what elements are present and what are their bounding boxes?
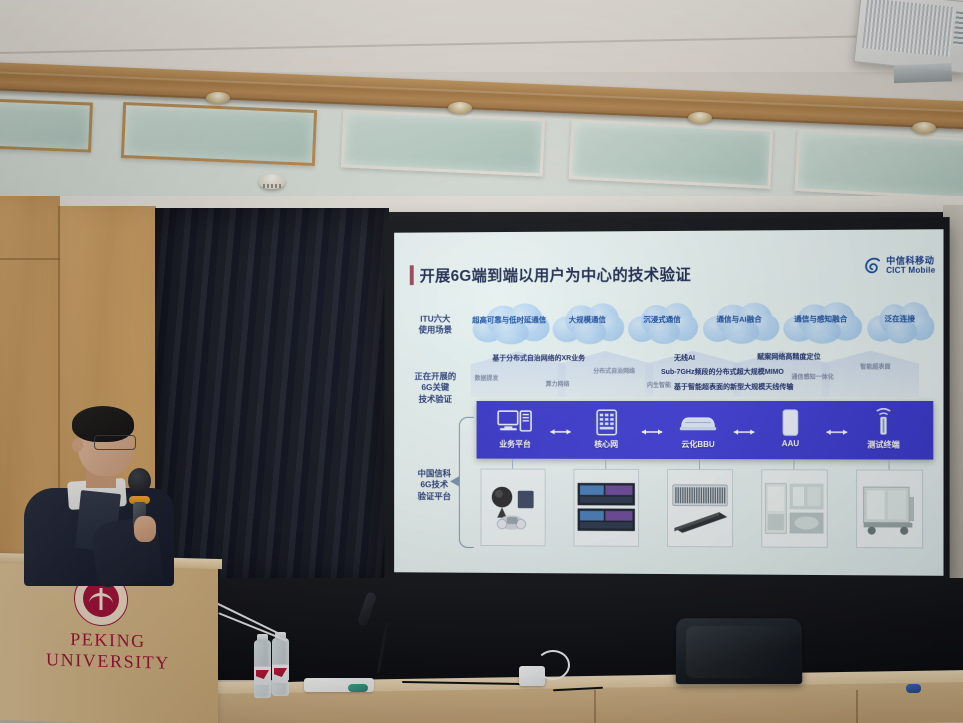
photo-connector-line (889, 459, 890, 469)
key-tech-sublabel: 智能超表面 (860, 362, 890, 371)
table-backdrop (214, 578, 963, 680)
scenario-cloud: 泛在连接 (866, 302, 933, 345)
water-bottle (272, 638, 289, 696)
key-tech-label: 赋案网络高精度定位 (757, 352, 821, 362)
title-accent-bar (410, 265, 414, 285)
scenario-cloud-label: 大规模通信 (552, 315, 623, 325)
device-node-label: 核心网 (575, 439, 637, 450)
photo-core-network-racks (573, 469, 639, 547)
handheld-microphone-head (128, 468, 151, 494)
table-panel-seam (856, 690, 858, 723)
screen-surface: 开展6G端到端以用户为中心的技术验证 中信科移动 CICT Mobile ITU… (394, 229, 943, 576)
ceiling-downlight (448, 102, 472, 114)
key-tech-label: 基于智能超表面的新型大规模天线传输 (674, 382, 793, 392)
ceiling-glass-panel (341, 109, 545, 176)
ceiling-glass-panel (795, 129, 963, 201)
ac-side-vent (953, 11, 963, 46)
key-tech-sublabel: 通信感知一体化 (791, 372, 833, 381)
label-line: 技术验证 (400, 394, 471, 405)
cict-swirl-icon (862, 256, 882, 276)
bidirectional-arrow-icon (637, 427, 667, 437)
scenario-cloud-label: 通信与AI融合 (701, 315, 777, 325)
label-line: 6G关键 (400, 383, 471, 394)
scenario-cloud-label: 通信与感知融合 (781, 314, 860, 324)
label-line: 正在开展的 (400, 371, 471, 382)
scenario-cloud: 通信与AI融合 (701, 303, 777, 345)
photo-connector-line (699, 459, 700, 469)
device-node-label: 测试终端 (852, 439, 915, 450)
photo-bbu-hardware (667, 469, 733, 547)
ceiling-downlight (206, 92, 230, 104)
scenario-cloud: 通信与感知融合 (781, 302, 860, 344)
ac-grille (862, 0, 955, 57)
slide-title: 开展6G端到端以用户为中心的技术验证 (420, 263, 691, 286)
label-line: ITU六大 (402, 314, 469, 326)
ceiling-glass-panel (121, 102, 317, 166)
device-node: 测试终端 (852, 407, 915, 450)
photo-aau-cabinets (761, 469, 828, 548)
logo-english-name: CICT Mobile (886, 266, 935, 274)
scenario-cloud-label: 超高可靠与低时延通信 (471, 315, 548, 325)
scenario-cloud: 沉浸式通信 (627, 303, 697, 345)
slide-title-row: 开展6G端到端以用户为中心的技术验证 (410, 260, 931, 288)
key-tech-label: 基于分布式自治网络的XR业务 (492, 353, 585, 363)
key-technology-band: 基于分布式自治网络的XR业务无线AI赋案网络高精度定位Sub-7GHz频段的分布… (471, 348, 940, 401)
section-label-itu-scenarios: ITU六大 使用场景 (402, 314, 469, 337)
logo-text-block: 中信科移动 CICT Mobile (886, 257, 935, 275)
water-bottle (254, 640, 271, 698)
presenter-ear (72, 438, 83, 452)
photo-connector-line (793, 459, 794, 469)
ceiling-glass-panel (569, 119, 774, 189)
equipment-photo-row (481, 469, 932, 549)
ceiling-downlight (688, 112, 712, 124)
photo-connector-line (605, 459, 606, 469)
ceiling (0, 0, 963, 215)
scenario-cloud: 超高可靠与低时延通信 (471, 303, 548, 345)
ceiling-glass-panel (0, 97, 93, 152)
conference-hall-photo: 开展6G端到端以用户为中心的技术验证 中信科移动 CICT Mobile ITU… (0, 0, 963, 723)
scenario-cloud-label: 沉浸式通信 (627, 315, 697, 325)
scenario-cloud-label: 泛在连接 (866, 314, 933, 324)
presenter-hand (134, 516, 156, 542)
bottle-label (272, 664, 289, 683)
device-node-label: AAU (759, 439, 822, 448)
platform-brace (459, 417, 474, 548)
bidirectional-arrow-icon (822, 427, 852, 437)
device-node: 云化BBU (667, 407, 729, 450)
key-tech-sublabel: 数据提发 (475, 373, 499, 382)
label-line: 使用场景 (402, 325, 469, 337)
section-label-key-tech: 正在开展的 6G关键 技术验证 (400, 371, 471, 405)
adapter-cord (536, 650, 570, 680)
device-node: 核心网 (575, 407, 637, 450)
bbu-unit-icon (667, 407, 729, 437)
presenter (20, 408, 200, 583)
photo-xr-devices (481, 469, 546, 547)
server-rack-icon (575, 407, 637, 437)
scenario-cloud: 大规模通信 (552, 303, 623, 345)
device-node-label: 云化BBU (667, 439, 729, 450)
key-tech-label: Sub-7GHz频段的分布式超大规模MIMO (661, 367, 784, 377)
ceiling-downlight (912, 122, 936, 134)
wood-panel-seam (0, 258, 60, 260)
bottle-cap (257, 634, 268, 642)
usage-scenario-clouds: 超高可靠与低时延通信大规模通信沉浸式通信通信与AI融合通信与感知融合泛在连接 (471, 298, 940, 353)
desktop-tower-icon (484, 407, 545, 437)
antenna-unit-icon (759, 407, 822, 437)
presentation-slide: 开展6G端到端以用户为中心的技术验证 中信科移动 CICT Mobile ITU… (394, 229, 943, 576)
ceiling-ac-unit (854, 0, 963, 74)
podium-university-name: PEKING UNIVERSITY (6, 627, 210, 675)
device-node-label: 业务平台 (484, 439, 545, 450)
key-tech-sublabel: 内生智能 (647, 380, 671, 389)
device-node: AAU (759, 407, 822, 448)
test-terminal-icon (852, 407, 915, 437)
ac-air-deflector (893, 63, 952, 83)
platform-brace-tip (450, 476, 459, 486)
green-marker (348, 684, 368, 692)
photo-test-terminal-cart (856, 469, 923, 548)
device-node: 业务平台 (484, 407, 545, 450)
bidirectional-arrow-icon (729, 427, 759, 437)
tech-chevron (822, 351, 919, 397)
bottle-label (254, 666, 271, 685)
photo-connector-line (512, 459, 513, 469)
office-chair (676, 618, 802, 684)
key-tech-label: 无线AI (674, 353, 695, 363)
projection-screen: 开展6G端到端以用户为中心的技术验证 中信科移动 CICT Mobile ITU… (384, 217, 949, 584)
e2e-device-chain-bar: 业务平台核心网云化BBUAAU测试终端 (477, 401, 934, 460)
bidirectional-arrow-icon (546, 427, 576, 437)
cict-mobile-logo: 中信科移动 CICT Mobile (862, 256, 936, 277)
key-tech-sublabel: 分布式自治网络 (593, 366, 635, 375)
smoke-detector-icon (259, 174, 285, 189)
presenter-glasses (94, 435, 136, 450)
blue-laser-pointer (906, 684, 921, 693)
key-tech-sublabel: 算力网络 (546, 379, 570, 388)
table-panel-seam (594, 690, 596, 723)
